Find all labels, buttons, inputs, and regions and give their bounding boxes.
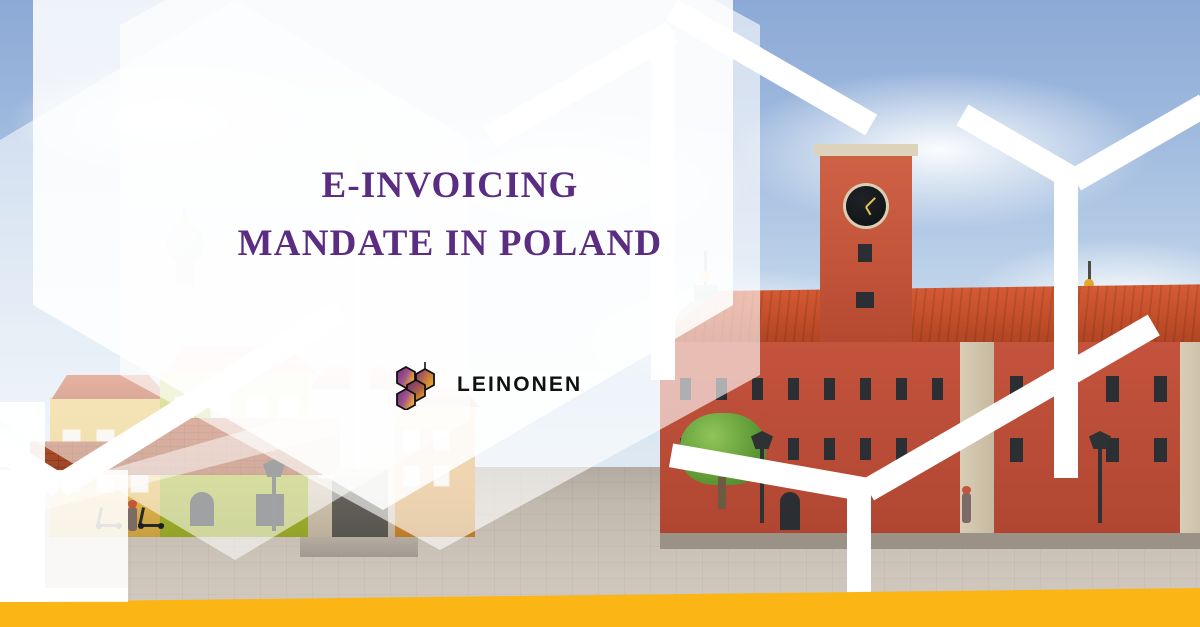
- background-photo: [0, 0, 1200, 627]
- logo-text: LEINONEN: [457, 374, 582, 395]
- pedestrian: [962, 493, 971, 523]
- accent-bar-left-gap: [0, 588, 128, 602]
- pedestrian: [128, 507, 137, 531]
- marketing-banner: E-INVOICING MANDATE IN POLAND: [0, 0, 1200, 627]
- logo[interactable]: LEINONEN: [392, 358, 582, 410]
- street-lamp: [272, 473, 276, 531]
- honeycomb-hexagon-icon: [392, 358, 448, 410]
- headline-line-2: MANDATE IN POLAND: [0, 221, 900, 266]
- headline-line-1: E-INVOICING: [0, 163, 900, 208]
- page-title: E-INVOICING MANDATE IN POLAND: [0, 163, 900, 266]
- old-town-houses: [0, 327, 460, 537]
- house-orange: [395, 405, 475, 537]
- street-lamp: [1098, 445, 1102, 523]
- street-lamp: [760, 445, 764, 523]
- castle-roof: [654, 284, 1200, 342]
- e-scooter: [96, 507, 122, 529]
- e-scooter: [138, 507, 164, 529]
- accent-bar: [0, 602, 1200, 627]
- tree: [680, 413, 766, 509]
